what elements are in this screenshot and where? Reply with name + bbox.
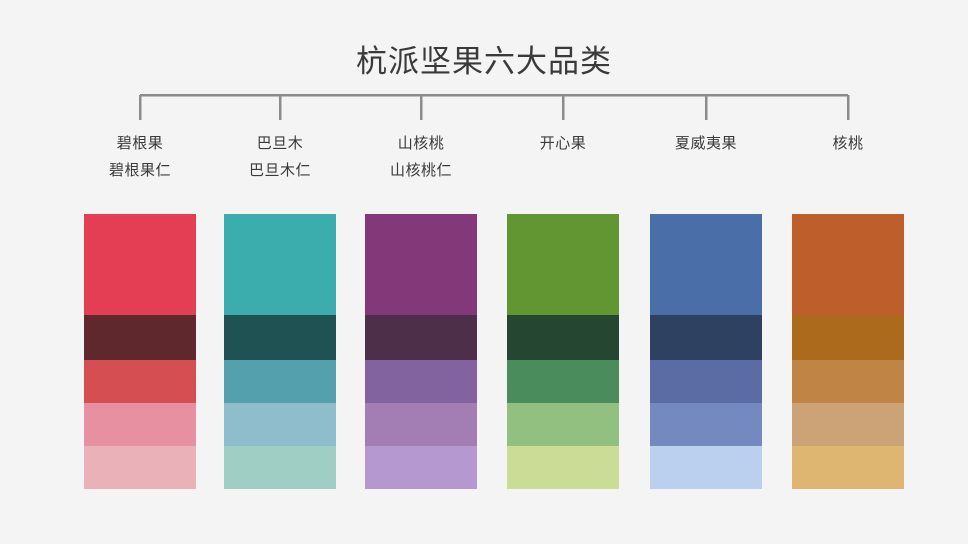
color-swatch-2-1[interactable]	[224, 214, 336, 315]
color-swatch-6-3[interactable]	[792, 360, 904, 403]
category-label-2[interactable]: 巴旦木巴旦木仁	[200, 130, 360, 184]
category-name: 巴旦木	[200, 130, 360, 157]
color-swatch-1-1[interactable]	[84, 214, 196, 315]
color-swatch-6-1[interactable]	[792, 214, 904, 315]
color-swatch-3-1[interactable]	[365, 214, 477, 315]
category-name: 核桃	[768, 130, 928, 157]
color-swatch-1-2[interactable]	[84, 315, 196, 360]
color-swatch-3-5[interactable]	[365, 446, 477, 489]
color-swatch-2-4[interactable]	[224, 403, 336, 446]
color-swatch-5-4[interactable]	[650, 403, 762, 446]
color-swatch-1-4[interactable]	[84, 403, 196, 446]
category-name: 山核桃	[341, 130, 501, 157]
category-name: 开心果	[483, 130, 643, 157]
swatch-column-1[interactable]	[84, 214, 196, 489]
category-label-row: 碧根果碧根果仁巴旦木巴旦木仁山核桃山核桃仁开心果夏威夷果核桃	[0, 130, 968, 190]
color-swatch-4-4[interactable]	[507, 403, 619, 446]
category-subname: 巴旦木仁	[200, 157, 360, 184]
color-swatch-1-5[interactable]	[84, 446, 196, 489]
category-label-4[interactable]: 开心果	[483, 130, 643, 157]
color-swatch-5-2[interactable]	[650, 315, 762, 360]
category-name: 夏威夷果	[626, 130, 786, 157]
palette-columns	[0, 214, 968, 489]
color-swatch-4-5[interactable]	[507, 446, 619, 489]
slide-canvas: 杭派坚果六大品类 碧根果碧根果仁巴旦木巴旦木仁山核桃山核桃仁开心果夏威夷果核桃	[0, 0, 968, 544]
category-label-3[interactable]: 山核桃山核桃仁	[341, 130, 501, 184]
color-swatch-5-3[interactable]	[650, 360, 762, 403]
swatch-column-2[interactable]	[224, 214, 336, 489]
color-swatch-6-2[interactable]	[792, 315, 904, 360]
category-subname: 山核桃仁	[341, 157, 501, 184]
color-swatch-3-3[interactable]	[365, 360, 477, 403]
color-swatch-4-2[interactable]	[507, 315, 619, 360]
category-label-1[interactable]: 碧根果碧根果仁	[60, 130, 220, 184]
color-swatch-1-3[interactable]	[84, 360, 196, 403]
swatch-column-3[interactable]	[365, 214, 477, 489]
swatch-column-6[interactable]	[792, 214, 904, 489]
page-title: 杭派坚果六大品类	[0, 42, 968, 82]
color-swatch-2-3[interactable]	[224, 360, 336, 403]
swatch-column-5[interactable]	[650, 214, 762, 489]
color-swatch-4-3[interactable]	[507, 360, 619, 403]
color-swatch-5-1[interactable]	[650, 214, 762, 315]
color-swatch-2-2[interactable]	[224, 315, 336, 360]
color-swatch-2-5[interactable]	[224, 446, 336, 489]
category-name: 碧根果	[60, 130, 220, 157]
color-swatch-5-5[interactable]	[650, 446, 762, 489]
category-subname: 碧根果仁	[60, 157, 220, 184]
color-swatch-6-5[interactable]	[792, 446, 904, 489]
category-label-5[interactable]: 夏威夷果	[626, 130, 786, 157]
color-swatch-4-1[interactable]	[507, 214, 619, 315]
color-swatch-6-4[interactable]	[792, 403, 904, 446]
color-swatch-3-4[interactable]	[365, 403, 477, 446]
swatch-column-4[interactable]	[507, 214, 619, 489]
category-label-6[interactable]: 核桃	[768, 130, 928, 157]
color-swatch-3-2[interactable]	[365, 315, 477, 360]
